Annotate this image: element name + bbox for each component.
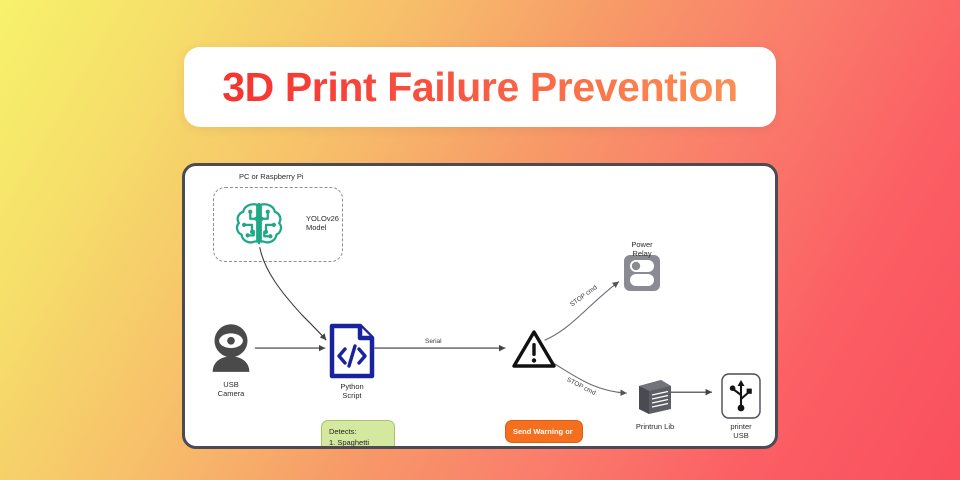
node-warning-alert[interactable] [511,328,557,370]
code-file-icon [327,322,377,380]
webcam-icon [209,322,253,376]
edge-label-serial: Serial [425,338,442,345]
diagram-panel: PC or Raspberry Pi [182,163,778,449]
server-icon [635,376,675,418]
node-printer-usb[interactable] [721,373,761,419]
node-python-script[interactable] [327,322,377,380]
node-power-relay[interactable] [623,254,661,292]
edge-model-to-script [260,247,327,340]
callout-detects: Detects: 1. Spaghetti [321,420,395,449]
page-title: 3D Print Failure Prevention [222,64,738,111]
poster-canvas: 3D Print Failure Prevention PC or Raspbe… [0,0,960,480]
node-usb-camera[interactable] [209,322,253,376]
node-label-python-script: Python Script [307,382,397,401]
title-card: 3D Print Failure Prevention [184,47,776,127]
callout-send-warning: Send Warning or [505,420,583,443]
brain-circuit-icon [231,196,287,252]
warning-triangle-icon [511,328,557,370]
node-label-power-relay: Power Relay [607,240,677,259]
node-label-usb-camera: USB Camera [186,380,276,399]
relay-switch-icon [623,254,661,292]
node-label-printer-usb: printer USB [696,422,778,441]
node-yolo-model[interactable] [231,196,287,252]
node-label-yolo-model: YOLOv26 Model [306,214,360,233]
usb-icon [721,373,761,419]
node-label-printrun-lib: Printrun Lib [610,422,700,431]
diagram-canvas: PC or Raspberry Pi [185,166,775,446]
node-printrun-lib[interactable] [635,376,675,418]
